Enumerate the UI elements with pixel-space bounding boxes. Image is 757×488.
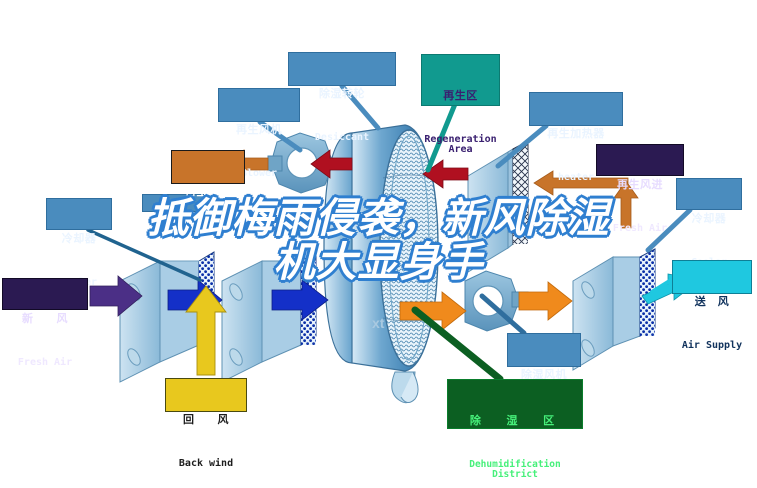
label-dehumid-district-en: Dehumidification District [448,460,582,480]
label-regen-blower: 再生风机 Blower [218,88,300,122]
label-back-wind: 回 风 Back wind [165,378,247,412]
label-regen-heater-cn: 再生加热器 [530,128,622,139]
label-back-wind-cn: 回 风 [166,414,246,425]
label-regen-exhaust-cn: 再生风出 [172,186,244,197]
label-dehumid-blower: 除湿风机 Blower [507,333,581,367]
label-regen-exhaust-en: Exhaust [172,231,244,241]
label-air-supply: 送 风 Air Supply [672,260,752,294]
label-regeneration-area-en: Regeneration Area [422,135,499,156]
label-air-supply-en: Air Supply [673,341,751,351]
flow-dehumidified-2 [519,282,572,320]
diagram-canvas: xt 除湿转轮 Desiccant 再生风机 Blower 再生区 Regene… [0,0,757,488]
label-regen-fresh-air-en: Fresh Air [597,224,683,234]
label-regen-fresh-air-cn: 再生风进 [597,179,683,190]
label-desiccant-wheel-cn: 除湿转轮 [289,88,395,99]
watermark-text: xt [372,315,385,331]
label-regen-fresh-air: 再生风进 Fresh Air [596,144,684,176]
label-supply-fresh-air-en: Fresh Air [3,358,87,368]
label-desiccant-wheel-en: Desiccant [289,133,395,143]
label-cooler-left-1-cn: 冷却器 [47,233,111,244]
label-regeneration-area-cn: 再生区 [422,90,499,101]
label-cooler-right-cn: 冷却器 [677,213,741,224]
label-air-supply-cn: 送 风 [673,296,751,307]
label-dehumid-district: 除 湿 区 Dehumidification District [447,379,583,429]
label-cooler-right: 冷却器 Cooler [676,178,742,210]
dehumid-blower-unit [465,271,528,331]
label-dehumid-district-cn: 除 湿 区 [448,415,582,426]
label-regen-exhaust: 再生风出 Exhaust [171,150,245,184]
label-supply-fresh-air: 新 风 Fresh Air [2,278,88,310]
label-regeneration-area: 再生区 Regeneration Area [421,54,500,106]
label-regen-heater: 再生加热器 heater [529,92,623,126]
label-desiccant-wheel: 除湿转轮 Desiccant [288,52,396,86]
label-cooler-left-1: 冷却器 Cooler [46,198,112,230]
label-supply-fresh-air-cn: 新 风 [3,313,87,324]
label-back-wind-en: Back wind [166,459,246,469]
label-regen-blower-cn: 再生风机 [219,124,299,135]
